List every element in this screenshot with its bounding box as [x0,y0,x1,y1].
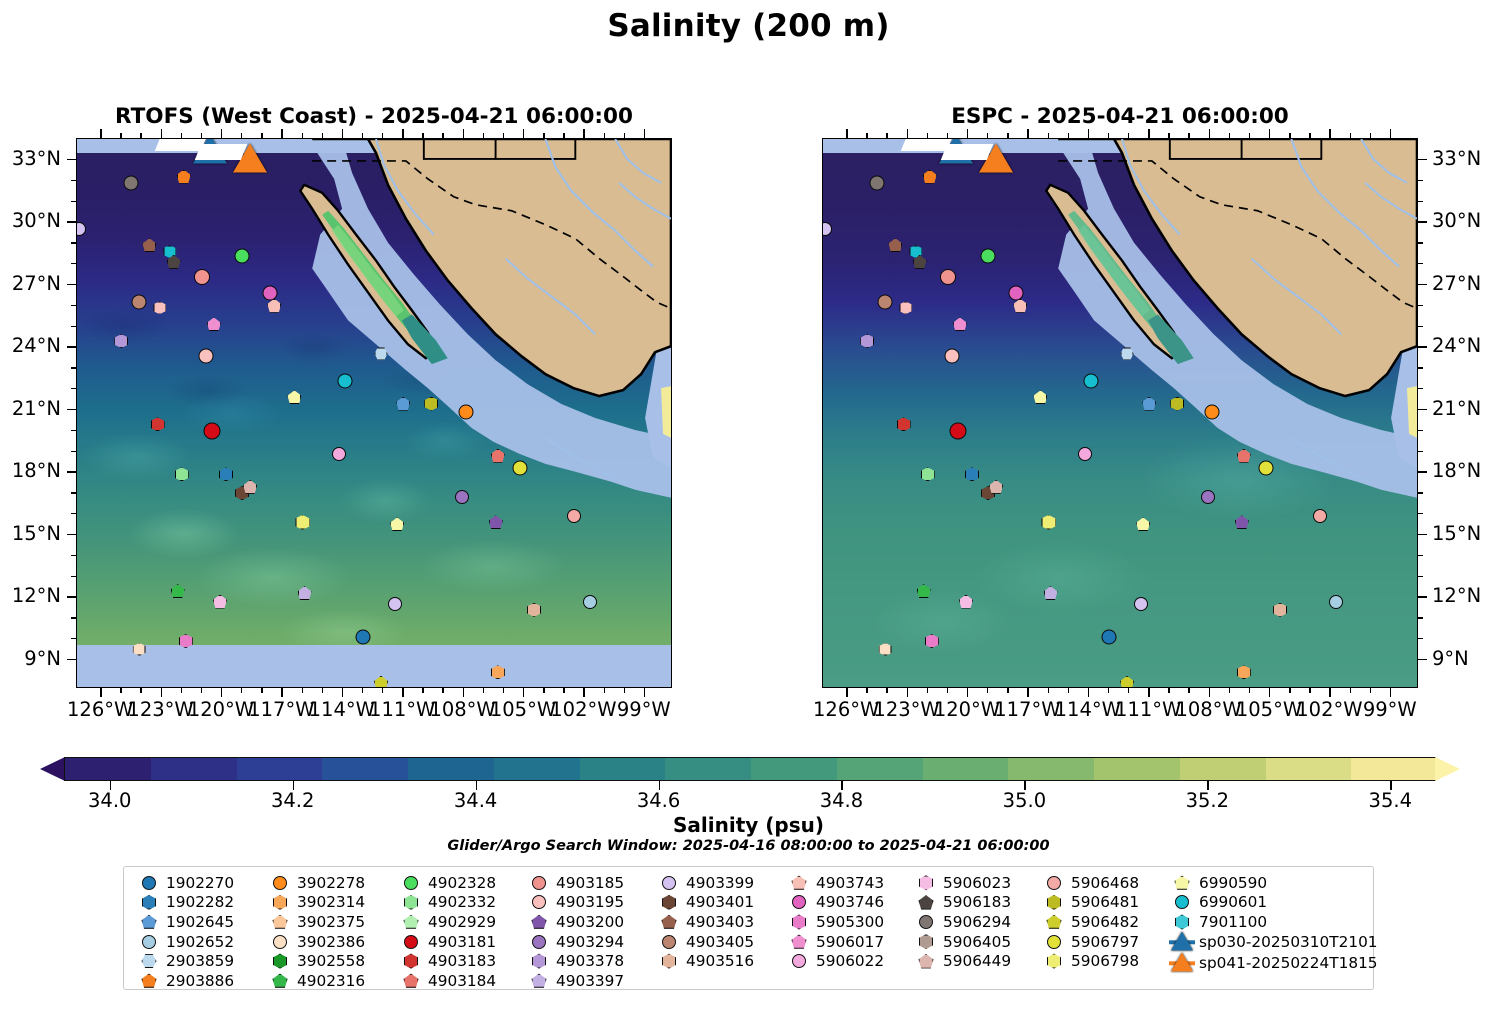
colorbar-tick-label: 34.4 [454,789,497,812]
legend-entry[interactable]: 3902558 [267,951,365,971]
legend-entry[interactable]: 4903405 [656,932,754,952]
y-axis-minor-tick [71,555,76,556]
legend-entry[interactable]: 1902270 [136,873,234,893]
x-axis-tick [221,688,222,697]
colorbar-segment [923,758,1009,780]
legend-marker-icon [526,971,552,990]
legend-entry[interactable]: 4903378 [526,951,624,971]
glider-track-segment [195,144,247,160]
x-axis-minor-tick [1309,133,1310,138]
legend-column: 59060235906183590629459064055906449 [913,873,1011,971]
legend-entry[interactable]: 5906022 [786,951,884,971]
legend-label: 4902332 [424,893,496,911]
x-axis-minor-tick [1128,688,1129,693]
x-axis-minor-tick [1309,688,1310,693]
legend-marker-icon [526,873,552,892]
argo-float-marker[interactable] [388,597,402,611]
y-axis-tick-label: 27°N [0,272,61,295]
legend-column: 1902270190228219026451902652290385929038… [136,873,234,991]
x-axis-minor-tick [483,688,484,693]
legend-marker-icon [913,893,939,912]
x-axis-tick [846,688,847,697]
legend-entry[interactable]: 5906449 [913,951,1011,971]
colorbar-segment [665,758,751,780]
x-axis-tick-label: 99°W [602,698,686,721]
x-axis-tick [100,688,101,697]
x-axis-minor-tick [261,688,262,693]
x-axis-minor-tick [1007,688,1008,693]
legend-entry[interactable]: 4903746 [786,893,884,913]
colorbar-segment [237,758,323,780]
legend-entry[interactable]: 4903181 [398,932,496,952]
legend-marker-icon [786,912,812,931]
x-axis-minor-tick [1188,133,1189,138]
x-axis-minor-tick [1188,688,1189,693]
x-axis-minor-tick [1350,133,1351,138]
legend-entry[interactable]: 4903516 [656,951,754,971]
x-axis-minor-tick [382,133,383,138]
legend-label: 5905300 [812,913,884,931]
x-axis-minor-tick [1370,133,1371,138]
legend-marker-icon [656,893,682,912]
y-axis-tick [1418,471,1427,472]
legend-label: 5906468 [1067,874,1139,892]
colorbar-segment [1351,758,1437,780]
colorbar-segment [494,758,580,780]
legend-label: 4903185 [552,874,624,892]
legend-marker-icon [526,932,552,951]
legend-entry[interactable]: 3902278 [267,873,365,893]
colorbar-segment [837,758,923,780]
legend-entry[interactable]: 4903399 [656,873,754,893]
x-axis-minor-tick [563,133,564,138]
argo-float-marker[interactable] [132,294,147,309]
legend-entry[interactable]: 3902375 [267,912,365,932]
argo-float-marker[interactable] [355,629,370,644]
legend-entry[interactable]: 1902282 [136,893,234,913]
x-axis-tick [1209,688,1210,697]
legend-marker-icon [136,873,162,892]
y-axis-minor-tick [1418,638,1423,639]
legend-marker-icon [1169,873,1195,892]
x-axis-minor-tick [604,133,605,138]
y-axis-tick-label: 30°N [1432,209,1481,232]
argo-float-marker[interactable] [458,404,473,419]
argo-float-marker[interactable] [1083,373,1098,388]
y-axis-tick-label: 12°N [1432,584,1481,607]
y-axis-tick-label: 9°N [1432,647,1469,670]
x-axis-minor-tick [927,688,928,693]
x-axis-minor-tick [442,133,443,138]
y-axis-minor-tick [71,180,76,181]
x-axis-minor-tick [322,133,323,138]
legend-marker-icon [267,971,293,990]
legend-label: 4902929 [424,913,496,931]
x-axis-minor-tick [1048,688,1049,693]
legend-entry[interactable]: 5906017 [786,932,884,952]
argo-float-marker[interactable] [455,490,469,504]
x-axis-minor-tick [604,688,605,693]
x-axis-minor-tick [1168,133,1169,138]
legend-marker-icon [267,912,293,931]
legend-label: 4903746 [812,893,884,911]
legend-marker-icon [526,952,552,971]
x-axis-minor-tick [1289,688,1290,693]
argo-float-marker[interactable] [1258,461,1273,476]
x-axis-minor-tick [886,688,887,693]
legend-column: 49037434903746590530059060175906022 [786,873,884,971]
map-panel-espc[interactable] [822,138,1418,688]
x-axis-tick-top [846,129,847,138]
argo-float-marker[interactable] [1313,509,1327,523]
argo-float-marker[interactable] [940,269,956,285]
x-axis-minor-tick [947,133,948,138]
x-axis-tick-top [583,129,584,138]
y-axis-tick-label: 21°N [0,397,61,420]
legend-entry[interactable]: 1902652 [136,932,234,952]
legend-entry[interactable]: 6990601 [1169,893,1267,913]
legend-label: 2903886 [162,972,234,990]
colorbar-title: Salinity (psu) [0,813,1497,837]
legend-entry[interactable]: 4902328 [398,873,496,893]
argo-float-marker[interactable] [949,422,966,439]
legend-entry-glider[interactable]: sp041-20250224T1815 [1169,953,1378,974]
x-axis-tick [644,688,645,697]
legend-marker-icon [267,873,293,892]
legend-label: 4902316 [293,972,365,990]
argo-float-marker[interactable] [512,461,527,476]
argo-float-marker[interactable] [235,248,250,263]
legend-label: 4903516 [682,952,754,970]
y-axis-minor-tick [1418,388,1423,389]
legend-entry[interactable]: 3902314 [267,893,365,913]
x-axis-minor-tick [201,688,202,693]
y-axis-tick [67,596,76,597]
x-axis-minor-tick [1350,688,1351,693]
legend-entry[interactable]: 4903184 [398,971,496,991]
legend-label: 3902278 [293,874,365,892]
glider-marker-icon [1169,954,1195,973]
legend-label: 4903401 [682,893,754,911]
argo-float-marker[interactable] [567,509,581,523]
colorbar-gradient [64,757,1436,781]
legend-entry-glider[interactable]: sp030-20250310T2101 [1169,932,1378,953]
y-axis-minor-tick [71,388,76,389]
y-axis-minor-tick [71,305,76,306]
legend-entry[interactable]: 4903743 [786,873,884,893]
x-axis-minor-tick [201,133,202,138]
legend-entry[interactable]: 4903185 [526,873,624,893]
x-axis-tick-top [1027,129,1028,138]
x-axis-tick [523,688,524,697]
x-axis-tick-top [402,129,403,138]
legend-label: 5906183 [939,893,1011,911]
y-axis-tick-label: 24°N [0,334,61,357]
legend-entry[interactable]: 4903195 [526,893,624,913]
y-axis-tick [1418,409,1427,410]
argo-float-marker[interactable] [583,595,597,609]
colorbar-tick-label: 34.0 [88,789,131,812]
x-axis-minor-tick [483,133,484,138]
legend-label: 3902386 [293,933,365,951]
argo-float-marker[interactable] [1101,629,1116,644]
search-window-caption: Glider/Argo Search Window: 2025-04-16 08… [0,838,1497,854]
x-axis-minor-tick [1068,688,1069,693]
x-axis-minor-tick [1068,133,1069,138]
legend-label: 4903183 [424,952,496,970]
y-axis-tick [1418,284,1427,285]
legend-entry[interactable]: 4903294 [526,932,624,952]
argo-float-marker[interactable] [1009,286,1024,301]
y-axis-minor-tick [1418,326,1423,327]
x-axis-minor-tick [624,688,625,693]
y-axis-tick [67,221,76,222]
legend-label: 5906449 [939,952,1011,970]
argo-float-marker[interactable] [1078,447,1092,461]
y-axis-tick [1418,346,1427,347]
legend-marker-icon [913,912,939,931]
legend-marker-icon [136,971,162,990]
legend-entry[interactable]: 5906183 [913,893,1011,913]
y-axis-minor-tick [1418,617,1423,618]
x-axis-minor-tick [362,133,363,138]
argo-float-marker[interactable] [944,348,959,363]
colorbar-segment [751,758,837,780]
x-axis-minor-tick [1370,688,1371,693]
x-axis-minor-tick [503,133,504,138]
y-axis-tick-label: 12°N [0,584,61,607]
legend-label: 5906482 [1067,913,1139,931]
y-axis-minor-tick [1418,492,1423,493]
argo-float-marker[interactable] [194,269,210,285]
legend-marker-icon [1169,893,1195,912]
x-axis-tick-top [907,129,908,138]
x-axis-tick-top [1390,129,1391,138]
x-axis-minor-tick [563,688,564,693]
legend-entry[interactable]: 5906405 [913,932,1011,952]
y-axis-tick [67,409,76,410]
x-axis-tick-top [1148,129,1149,138]
x-axis-minor-tick [1108,133,1109,138]
y-axis-tick-label: 33°N [0,147,61,170]
x-axis-minor-tick [886,133,887,138]
y-axis-tick-label: 15°N [0,522,61,545]
argo-float-marker[interactable] [263,286,278,301]
legend-label: 6990601 [1195,893,1267,911]
y-axis-minor-tick [71,617,76,618]
platform-legend[interactable]: 1902270190228219026451902652290385929038… [123,866,1374,990]
argo-float-marker[interactable] [981,248,996,263]
argo-float-marker[interactable] [1329,595,1343,609]
legend-marker-icon [913,952,939,971]
legend-label: 3902558 [293,952,365,970]
y-axis-minor-tick [1418,263,1423,264]
x-axis-tick [1269,688,1270,697]
x-axis-minor-tick [422,133,423,138]
x-axis-minor-tick [543,688,544,693]
x-axis-minor-tick [382,688,383,693]
colorbar-segment [151,758,237,780]
x-axis-tick [967,688,968,697]
colorbar-segment [408,758,494,780]
panel-title-rtofs: RTOFS (West Coast) - 2025-04-21 06:00:00 [76,104,672,129]
legend-column: 699059069906017901100 [1169,873,1267,932]
legend-entry[interactable]: 5906798 [1041,951,1139,971]
legend-entry[interactable]: 4903397 [526,971,624,991]
x-axis-minor-tick [181,133,182,138]
legend-label: 5906022 [812,952,884,970]
colorbar-tick-label: 35.4 [1369,789,1412,812]
legend-label: 2903859 [162,952,234,970]
legend-entry[interactable]: 5906481 [1041,893,1139,913]
legend-label: 4903399 [682,874,754,892]
legend-entry[interactable]: 4902929 [398,912,496,932]
y-axis-minor-tick [71,263,76,264]
legend-label: 5906023 [939,874,1011,892]
legend-marker-icon [267,893,293,912]
legend-entry[interactable]: 5906468 [1041,873,1139,893]
glider-track-segment [941,144,993,160]
x-axis-minor-tick [241,688,242,693]
colorbar-segment [1180,758,1266,780]
x-axis-minor-tick [442,688,443,693]
x-axis-minor-tick [322,688,323,693]
x-axis-minor-tick [503,688,504,693]
y-axis-minor-tick [1418,576,1423,577]
legend-label: 5906481 [1067,893,1139,911]
x-axis-minor-tick [1108,688,1109,693]
legend-label: 3902314 [293,893,365,911]
y-axis-minor-tick [71,201,76,202]
x-axis-minor-tick [1007,133,1008,138]
argo-float-marker[interactable] [1204,404,1219,419]
map-panel-rtofs[interactable] [76,138,672,688]
legend-entry[interactable]: 5906797 [1041,932,1139,952]
x-axis-tick-top [221,129,222,138]
x-axis-minor-tick [120,133,121,138]
legend-marker-icon [786,932,812,951]
x-axis-minor-tick [1249,688,1250,693]
legend-entry[interactable]: 4902332 [398,893,496,913]
legend-marker-icon [398,873,424,892]
legend-entry[interactable]: 6990590 [1169,873,1267,893]
x-axis-minor-tick [1289,133,1290,138]
legend-marker-icon [1041,873,1067,892]
glider-marker-icon [1169,933,1195,952]
x-axis-minor-tick [1229,688,1230,693]
legend-entry[interactable]: 5906294 [913,912,1011,932]
x-axis-tick-top [1088,129,1089,138]
legend-marker-icon [526,912,552,931]
x-axis-minor-tick [1128,133,1129,138]
legend-entry[interactable]: 2903859 [136,951,234,971]
argo-float-marker[interactable] [337,373,352,388]
legend-column: 59064685906481590648259067975906798 [1041,873,1139,971]
legend-entry[interactable]: 1902645 [136,912,234,932]
argo-float-marker[interactable] [203,422,220,439]
legend-entry[interactable]: 4903403 [656,912,754,932]
x-axis-tick [1390,688,1391,697]
legend-entry[interactable]: 4903183 [398,951,496,971]
legend-marker-icon [913,932,939,951]
legend-marker-icon [1041,912,1067,931]
legend-marker-icon [398,893,424,912]
colorbar-segment [1008,758,1094,780]
y-axis-tick [67,284,76,285]
x-axis-tick-top [342,129,343,138]
x-axis-tick [1088,688,1089,697]
y-axis-tick-label: 18°N [1432,459,1481,482]
x-axis-tick-top [967,129,968,138]
legend-marker-icon [1169,912,1195,931]
legend-marker-icon [1041,932,1067,951]
colorbar-segment [1094,758,1180,780]
legend-marker-icon [656,912,682,931]
legend-entry[interactable]: 5906482 [1041,912,1139,932]
colorbar-segment [322,758,408,780]
argo-float-marker[interactable] [332,447,346,461]
legend-label: 4903405 [682,933,754,951]
legend-label-glider: sp041-20250224T1815 [1195,954,1378,972]
y-axis-tick [1418,596,1427,597]
legend-marker-icon [398,971,424,990]
x-axis-minor-tick [987,688,988,693]
argo-float-marker[interactable] [1201,490,1215,504]
x-axis-minor-tick [422,688,423,693]
legend-marker-icon [656,873,682,892]
legend-marker-icon [786,873,812,892]
argo-float-marker[interactable] [124,175,139,190]
x-axis-minor-tick [866,133,867,138]
legend-entry[interactable]: 7901100 [1169,912,1267,932]
argo-float-marker[interactable] [870,175,885,190]
y-axis-minor-tick [71,326,76,327]
legend-label: 1902270 [162,874,234,892]
colorbar[interactable] [40,757,1460,781]
x-axis-minor-tick [927,133,928,138]
x-axis-tick [463,688,464,697]
y-axis-tick [1418,159,1427,160]
x-axis-tick-top [523,129,524,138]
y-axis-minor-tick [1418,513,1423,514]
colorbar-segment [580,758,666,780]
legend-entry[interactable]: 4902316 [267,971,365,991]
legend-entry[interactable]: 4903200 [526,912,624,932]
y-axis-tick [1418,221,1427,222]
x-axis-tick-top [1209,129,1210,138]
argo-float-marker[interactable] [198,348,213,363]
y-axis-tick-label: 9°N [0,647,61,670]
argo-float-marker[interactable] [1134,597,1148,611]
x-axis-tick [402,688,403,697]
x-axis-minor-tick [1229,133,1230,138]
legend-entry[interactable]: 2903886 [136,971,234,991]
x-axis-minor-tick [302,133,303,138]
legend-entry[interactable]: 4903401 [656,893,754,913]
legend-label: 4903294 [552,933,624,951]
x-axis-minor-tick [987,133,988,138]
y-axis-tick-label: 18°N [0,459,61,482]
legend-entry[interactable]: 5905300 [786,912,884,932]
legend-entry[interactable]: 5906023 [913,873,1011,893]
argo-float-marker[interactable] [878,294,893,309]
legend-entry[interactable]: 3902386 [267,932,365,952]
legend-label: 4903397 [552,972,624,990]
x-axis-minor-tick [866,688,867,693]
legend-column: 3902278390231439023753902386390255849023… [267,873,365,991]
legend-marker-icon [1041,952,1067,971]
x-axis-minor-tick [1048,133,1049,138]
